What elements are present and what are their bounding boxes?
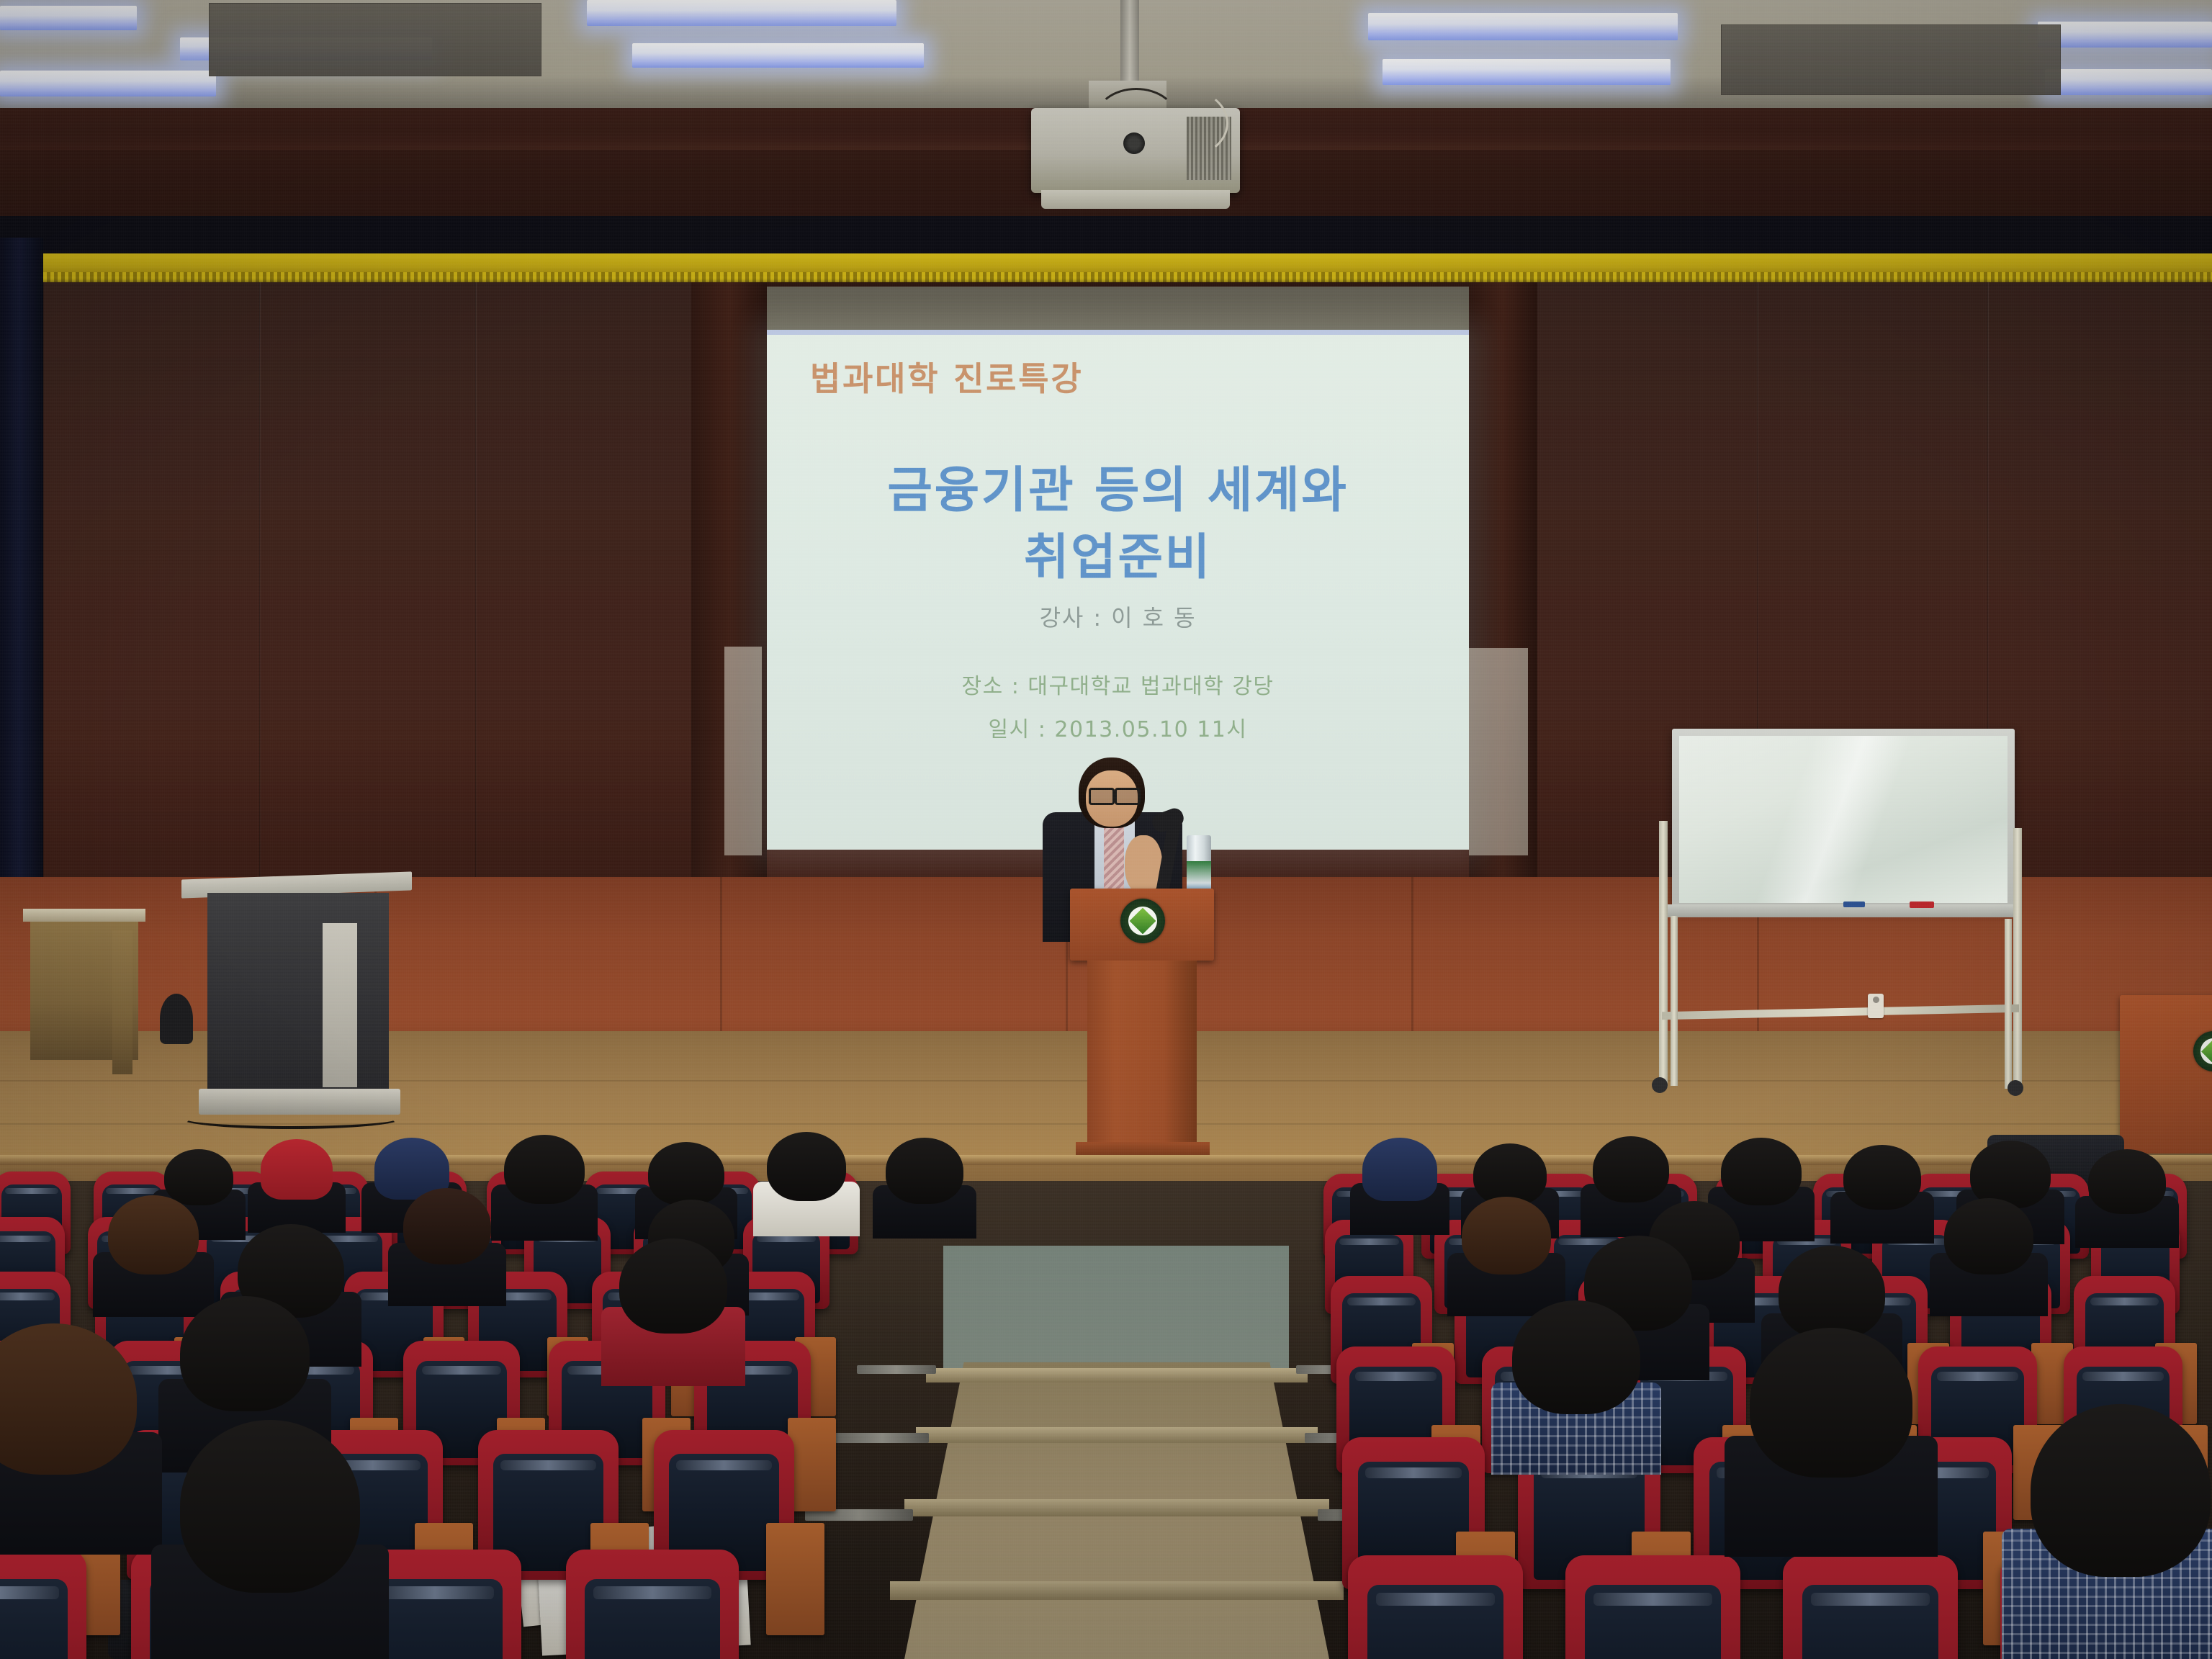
seat-highlight (676, 1460, 772, 1471)
secondary-podium (2120, 995, 2212, 1154)
audience-member-head (1721, 1138, 1802, 1205)
wall-seam (1411, 877, 1413, 1043)
auditorium-seat[interactable] (1783, 1555, 1958, 1659)
stage-curtain-left (0, 238, 43, 958)
aisle-front-floor (943, 1246, 1289, 1368)
lectern-accent-strip (323, 923, 357, 1087)
whiteboard-foot-left (1671, 916, 1678, 1086)
seat-highlight (1811, 1593, 1930, 1606)
audience-member-head (2031, 1404, 2211, 1577)
audience-member-head (180, 1420, 360, 1593)
writing-tablet-arm[interactable] (788, 1418, 836, 1511)
fluorescent-strip-light (1382, 59, 1671, 85)
seat-highlight (1339, 1238, 1400, 1245)
wall-light-panel-left (724, 647, 762, 855)
audience-member-head (108, 1195, 199, 1274)
audience-member-cap (261, 1139, 333, 1200)
wall-panel (259, 282, 477, 887)
presenter-glasses (1115, 788, 1141, 805)
audience-member-head (1473, 1143, 1547, 1205)
projector-cable-light (1130, 86, 1228, 160)
wall-panel (1987, 282, 2212, 887)
auditorium-seat[interactable] (1565, 1555, 1740, 1659)
slide-venue-line: 장소 : 대구대학교 법과대학 강당 (767, 668, 1469, 700)
audience-member-head (403, 1188, 491, 1264)
audience-member-head (1944, 1198, 2033, 1274)
university-emblem (1120, 899, 1165, 943)
whiteboard-leg-left (1659, 821, 1668, 1087)
whiteboard-foot-right (2005, 919, 2012, 1089)
seat-highlight (422, 1366, 501, 1375)
seat-highlight (2082, 1372, 2163, 1380)
wall-power-outlet[interactable] (1868, 994, 1884, 1018)
wall-light-panel-right (1469, 648, 1528, 855)
screen-top-edge (767, 330, 1469, 335)
marker-blue[interactable] (1843, 902, 1865, 907)
whiteboard-glare (1679, 736, 2008, 903)
aisle-step (890, 1581, 1344, 1600)
wall-seam (720, 877, 722, 1043)
seat-highlight (1365, 1467, 1462, 1478)
seat-highlight (376, 1586, 493, 1599)
presenter-glasses (1089, 788, 1115, 805)
auditorium-seat[interactable] (0, 1550, 86, 1659)
seat-highlight (1376, 1593, 1495, 1606)
seat-highlight (5, 1188, 58, 1194)
slide-datetime-line: 일시 : 2013.05.10 11시 (767, 711, 1469, 743)
lectern-body (207, 893, 389, 1102)
floor-microphone-stand (160, 994, 193, 1044)
fluorescent-strip-light (1368, 13, 1678, 40)
aisle-step-nosing (857, 1365, 936, 1374)
slide-title-line2: 취업준비 (767, 517, 1469, 588)
aisle-step-nosing (835, 1433, 929, 1443)
aisle-step (904, 1499, 1329, 1516)
writing-tablet-arm[interactable] (766, 1523, 824, 1635)
fluorescent-strip-light (0, 6, 137, 30)
audience-member-head (2088, 1149, 2166, 1214)
whiteboard-leg-right (2013, 828, 2022, 1087)
audience-member-head (648, 1142, 724, 1205)
audience-member-head (619, 1238, 727, 1334)
screen-upper-grey (767, 287, 1469, 331)
whiteboard-caster (2008, 1080, 2023, 1096)
audience-member-head (767, 1132, 846, 1201)
auditorium-seat[interactable] (566, 1550, 739, 1659)
slide-header: 법과대학 진로특강 (810, 353, 1357, 400)
seat-highlight (1355, 1372, 1436, 1380)
audience-member-head (1750, 1328, 1912, 1478)
ceiling-air-vent (1721, 24, 2061, 95)
seat-highlight (2090, 1298, 2159, 1305)
seat-highlight (500, 1460, 596, 1471)
lecture-hall-photo: 법과대학 진로특강 금융기관 등의 세계와 취업준비 강사 : 이 호 동 장소… (0, 0, 2212, 1659)
seat-highlight (1937, 1372, 2018, 1380)
ceiling-air-vent (209, 3, 541, 76)
audience-member-head (504, 1135, 585, 1204)
wall-panel (43, 282, 261, 887)
audience-member-head (164, 1149, 233, 1205)
seat-highlight (0, 1586, 59, 1599)
audience-member-head (886, 1138, 963, 1204)
audience-member-head (1593, 1136, 1669, 1202)
seat-highlight (106, 1188, 158, 1194)
audience-member-head (1512, 1300, 1640, 1414)
audience-member-head (180, 1296, 310, 1411)
seat-highlight (0, 1236, 51, 1242)
fluorescent-strip-light (632, 43, 924, 68)
audience-member-head (1843, 1145, 1921, 1210)
speaker-podium-column (1087, 961, 1197, 1152)
fluorescent-strip-light (0, 71, 216, 96)
slide-speaker-line: 강사 : 이 호 동 (767, 600, 1469, 633)
audience-member-head (1462, 1197, 1551, 1274)
seat-highlight (593, 1586, 711, 1599)
side-table-top (23, 909, 145, 922)
wall-panel (475, 282, 693, 887)
projector-bottom-lip (1041, 190, 1230, 209)
auditorium-seat[interactable] (1348, 1555, 1523, 1659)
audience-member-head (1779, 1246, 1885, 1339)
side-table-leg (112, 930, 132, 1074)
fluorescent-strip-light (587, 0, 896, 26)
slide-title-line1: 금융기관 등의 세계와 (767, 450, 1469, 521)
projector-mount-pole (1120, 0, 1139, 86)
seat-highlight (0, 1292, 55, 1300)
seat-highlight (1347, 1298, 1416, 1305)
whiteboard-caster (1652, 1077, 1668, 1093)
fluorescent-strip-light (2038, 22, 2212, 48)
audience-member-cap (1362, 1138, 1437, 1201)
seat-highlight (1593, 1593, 1712, 1606)
fluorescent-strip-light (2045, 69, 2212, 95)
aisle-step (926, 1368, 1308, 1382)
floor-cable (180, 1107, 402, 1129)
marker-red[interactable] (1910, 902, 1934, 908)
aisle-step (916, 1427, 1318, 1443)
